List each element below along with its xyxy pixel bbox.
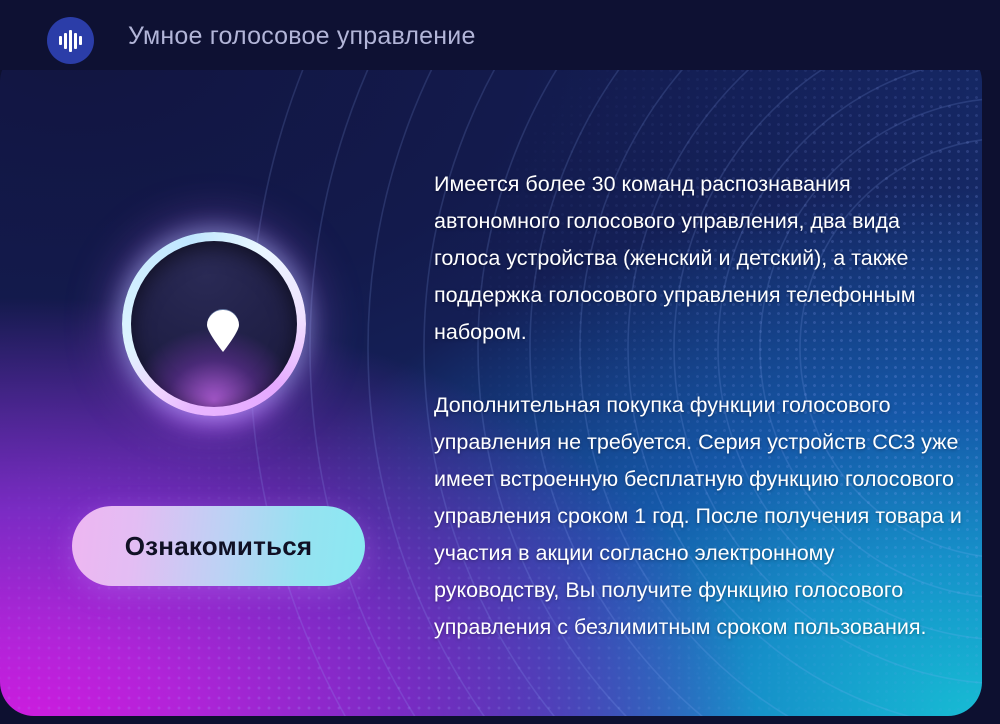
description-text: Имеется более 30 команд распознавания ав… [434,166,964,646]
learn-more-button[interactable]: Ознакомиться [72,506,365,586]
paragraph-1: Имеется более 30 команд распознавания ав… [434,166,964,351]
orb-ring [122,232,306,416]
content-card: Ознакомиться Имеется более 30 команд рас… [0,48,982,716]
page-title: Умное голосовое управление [128,22,476,51]
paragraph-2: Дополнительная покупка функции голосовог… [434,387,964,646]
promo-slide: Ознакомиться Имеется более 30 команд рас… [0,0,1000,724]
voice-orb [112,226,317,441]
header-bar: Умное голосовое управление [0,0,1000,70]
orb-inner-surface [131,241,297,407]
voice-waveform-icon [47,17,94,64]
